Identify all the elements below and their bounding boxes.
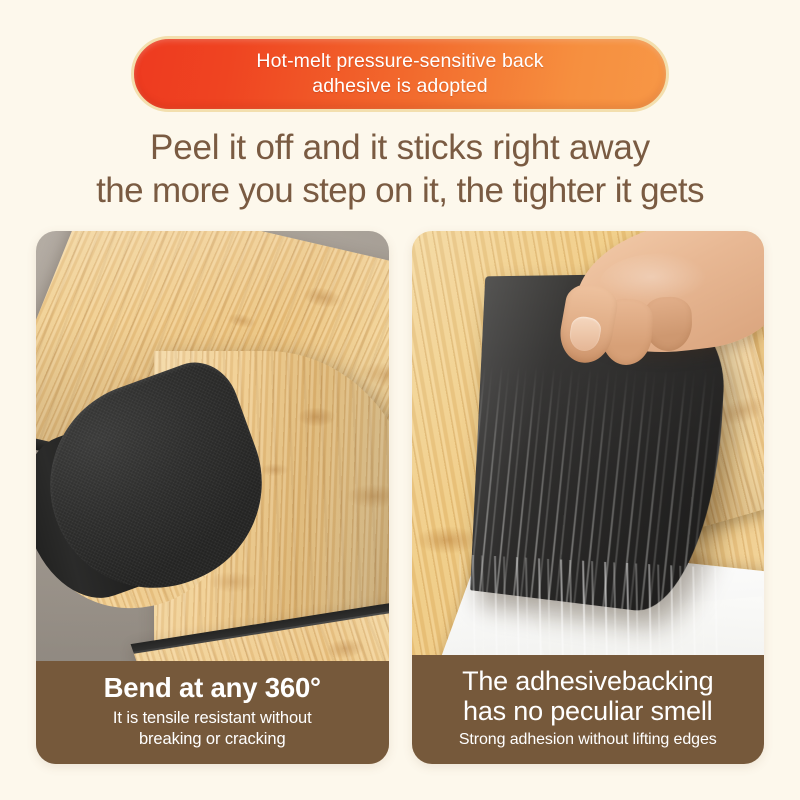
page-title: Peel it off and it sticks right away the… <box>0 126 800 212</box>
hand-peeling <box>540 231 765 403</box>
caption-subtitle-line-2: breaking or cracking <box>46 729 379 750</box>
feature-cards: Bend at any 360° It is tensile resistant… <box>36 231 764 764</box>
banner-text: Hot-melt pressure-sensitive back adhesiv… <box>234 49 565 99</box>
caption-subtitle: It is tensile resistant without breaking… <box>46 708 379 750</box>
banner: Hot-melt pressure-sensitive back adhesiv… <box>131 36 669 112</box>
headline-line-2: the more you step on it, the tighter it … <box>0 169 800 212</box>
caption-no-smell: The adhesivebacking has no peculiar smel… <box>412 655 765 764</box>
caption-subtitle-line-1: It is tensile resistant without <box>46 708 379 729</box>
banner-line-1: Hot-melt pressure-sensitive back <box>256 49 543 74</box>
caption-title: Bend at any 360° <box>46 672 379 703</box>
caption-title: The adhesivebacking has no peculiar smel… <box>422 666 755 726</box>
caption-bend-360: Bend at any 360° It is tensile resistant… <box>36 661 389 764</box>
headline-line-1: Peel it off and it sticks right away <box>0 126 800 169</box>
feature-card-bend-360: Bend at any 360° It is tensile resistant… <box>36 231 389 764</box>
caption-title-line-1: The adhesivebacking <box>422 666 755 696</box>
banner-line-2: adhesive is adopted <box>256 74 543 99</box>
caption-title-line-2: has no peculiar smell <box>422 696 755 726</box>
banner-pill: Hot-melt pressure-sensitive back adhesiv… <box>131 36 669 112</box>
feature-card-no-smell: The adhesivebacking has no peculiar smel… <box>412 231 765 764</box>
caption-subtitle: Strong adhesion without lifting edges <box>422 729 755 750</box>
